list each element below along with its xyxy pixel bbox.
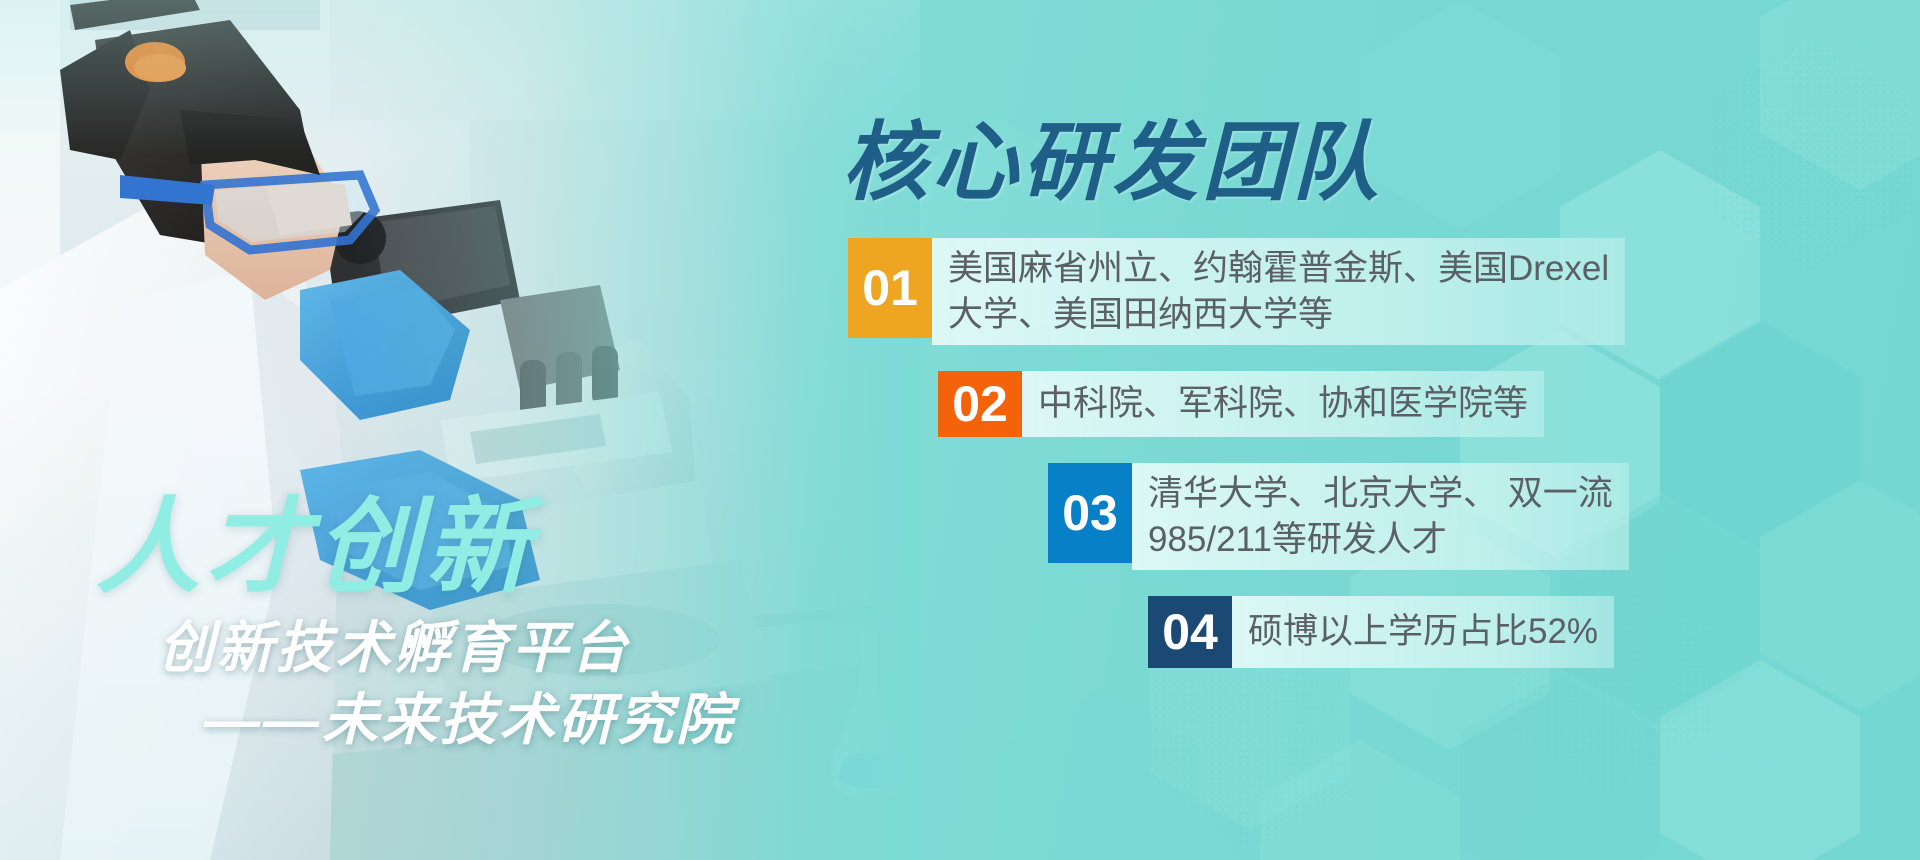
kicker-text: 人才创新: [96, 498, 836, 600]
panel-title: 核心研发团队: [842, 92, 1382, 217]
list-item[interactable]: 04 硕博以上学历占比52%: [830, 596, 1920, 668]
team-item-list: 01 美国麻省州立、约翰霍普金斯、美国Drexel 大学、美国田纳西大学等 02…: [830, 238, 1920, 694]
item-text-line: 中科院、军科院、协和医学院等: [1038, 381, 1528, 427]
subtitle-line-2: ——未来技术研究院: [204, 688, 836, 752]
list-item[interactable]: 01 美国麻省州立、约翰霍普金斯、美国Drexel 大学、美国田纳西大学等: [830, 238, 1920, 345]
item-text: 美国麻省州立、约翰霍普金斯、美国Drexel 大学、美国田纳西大学等: [932, 238, 1625, 345]
list-item[interactable]: 03 清华大学、北京大学、 双一流 985/211等研发人才: [830, 463, 1920, 570]
item-number-badge: 01: [848, 238, 932, 338]
item-text: 清华大学、北京大学、 双一流 985/211等研发人才: [1132, 463, 1629, 570]
banner-root: 人才创新 创新技术孵育平台 ——未来技术研究院 核心研发团队 01 美国麻省州立…: [0, 0, 1920, 860]
item-number-badge: 03: [1048, 463, 1132, 563]
item-text-line: 清华大学、北京大学、 双一流: [1148, 471, 1613, 517]
core-team-panel: 核心研发团队 01 美国麻省州立、约翰霍普金斯、美国Drexel 大学、美国田纳…: [830, 0, 1920, 860]
item-text: 中科院、军科院、协和医学院等: [1022, 371, 1544, 437]
item-number-badge: 04: [1148, 596, 1232, 668]
subtitle-line-1: 创新技术孵育平台: [158, 616, 836, 680]
item-text-line: 985/211等研发人才: [1148, 517, 1613, 563]
item-number-badge: 02: [938, 371, 1022, 437]
left-headline-block: 人才创新 创新技术孵育平台 ——未来技术研究院: [96, 498, 836, 753]
item-text-line: 大学、美国田纳西大学等: [948, 292, 1609, 338]
item-text-line: 美国麻省州立、约翰霍普金斯、美国Drexel: [948, 246, 1609, 292]
list-item[interactable]: 02 中科院、军科院、协和医学院等: [830, 371, 1920, 437]
item-text-line: 硕博以上学历占比52%: [1248, 609, 1598, 655]
item-text: 硕博以上学历占比52%: [1232, 596, 1614, 668]
